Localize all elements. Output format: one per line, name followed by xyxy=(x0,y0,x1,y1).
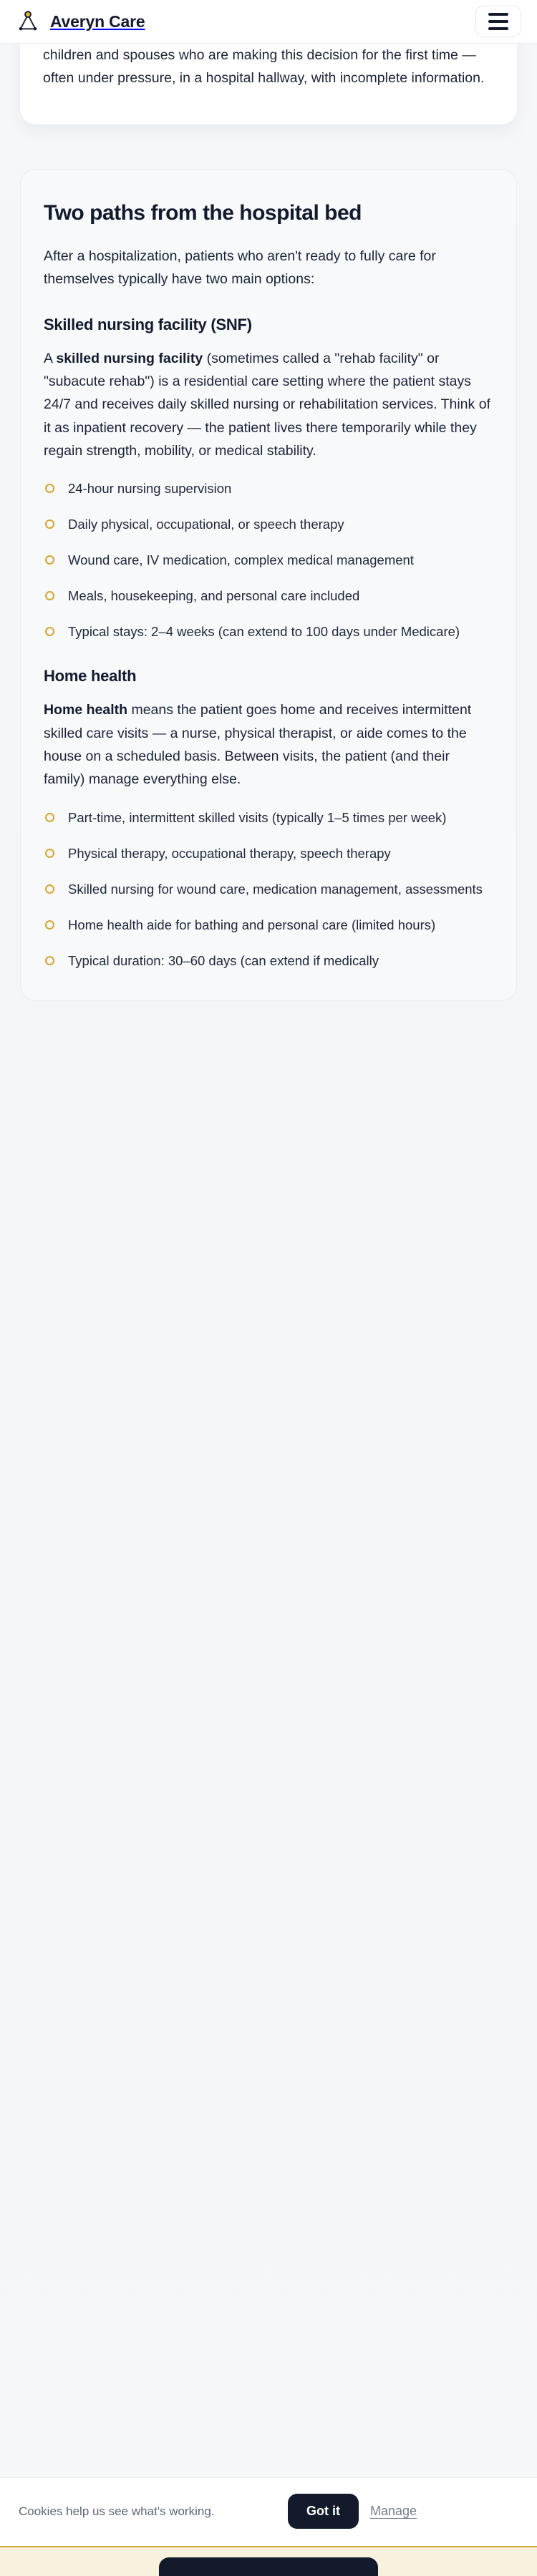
list-item: Skilled nursing for wound care, medicati… xyxy=(44,879,493,900)
lead-rest-snf: (sometimes called a "rehab facility" or … xyxy=(44,351,490,459)
bullet-list-snf: 24-hour nursing supervision Daily physic… xyxy=(44,478,493,643)
list-item: 24-hour nursing supervision xyxy=(44,478,493,499)
circle-bullet-icon xyxy=(45,956,54,965)
card-intro-paragraph: After a hospitalization, patients who ar… xyxy=(44,245,493,291)
circle-bullet-icon xyxy=(45,813,54,822)
brand-link[interactable]: Averyn Care xyxy=(17,11,145,32)
circle-bullet-icon xyxy=(45,519,54,529)
circle-bullet-icon xyxy=(45,849,54,858)
hamburger-menu-icon[interactable] xyxy=(475,6,521,37)
list-item: Daily physical, occupational, or speech … xyxy=(44,514,493,535)
list-item-label: Home health aide for bathing and persona… xyxy=(68,917,435,932)
list-item-label: Skilled nursing for wound care, medicati… xyxy=(68,882,483,897)
triangle-compass-logo-icon xyxy=(17,11,39,32)
section-lead-home-health: Home health means the patient goes home … xyxy=(44,698,493,791)
site-header: Averyn Care xyxy=(0,0,537,44)
cookie-accept-button[interactable]: Got it xyxy=(288,2494,359,2529)
lead-bold-home-health: Home health xyxy=(44,702,127,718)
page-root: Averyn Care children and spouses who are… xyxy=(0,0,537,2576)
cookie-message: Cookies help us see what's working. xyxy=(19,2502,276,2520)
cookie-manage-link[interactable]: Manage xyxy=(370,2504,417,2519)
two-paths-card: Two paths from the hospital bed After a … xyxy=(20,169,517,1001)
lead-prefix-snf: A xyxy=(44,351,56,366)
list-item: Typical duration: 30–60 days (can extend… xyxy=(44,950,493,972)
list-item: Part-time, intermittent skilled visits (… xyxy=(44,807,493,829)
intro-paragraph: children and spouses who are making this… xyxy=(43,44,494,90)
circle-bullet-icon xyxy=(45,627,54,636)
lead-bold-snf: skilled nursing facility xyxy=(56,351,203,366)
list-item: Typical stays: 2–4 weeks (can extend to … xyxy=(44,621,493,643)
list-item-label: Typical stays: 2–4 weeks (can extend to … xyxy=(68,624,460,639)
list-item-label: Part-time, intermittent skilled visits (… xyxy=(68,810,446,825)
cookie-consent-banner: Cookies help us see what's working. Got … xyxy=(0,2477,537,2546)
list-item-label: Meals, housekeeping, and personal care i… xyxy=(68,588,359,603)
circle-bullet-icon xyxy=(45,555,54,565)
list-item: Home health aide for bathing and persona… xyxy=(44,914,493,936)
menu-bar-1 xyxy=(488,13,508,16)
list-item-label: Daily physical, occupational, or speech … xyxy=(68,517,344,532)
card-title: Two paths from the hospital bed xyxy=(44,200,493,226)
circle-bullet-icon xyxy=(45,591,54,600)
list-item-label: Physical therapy, occupational therapy, … xyxy=(68,846,391,861)
sticky-cta-button[interactable] xyxy=(159,2557,378,2576)
circle-bullet-icon xyxy=(45,484,54,493)
menu-bar-3 xyxy=(488,27,508,30)
bullet-list-home-health: Part-time, intermittent skilled visits (… xyxy=(44,807,493,972)
sticky-bottom-bar xyxy=(0,2546,537,2576)
circle-bullet-icon xyxy=(45,884,54,894)
main-content: children and spouses who are making this… xyxy=(0,44,537,2576)
section-lead-snf: A skilled nursing facility (sometimes ca… xyxy=(44,347,493,463)
brand-name: Averyn Care xyxy=(50,12,145,31)
list-item-label: 24-hour nursing supervision xyxy=(68,481,231,496)
list-item: Meals, housekeeping, and personal care i… xyxy=(44,585,493,607)
menu-bar-2 xyxy=(488,20,508,23)
list-item: Physical therapy, occupational therapy, … xyxy=(44,843,493,864)
list-item-label: Typical duration: 30–60 days (can extend… xyxy=(68,953,379,968)
section-heading-home-health: Home health xyxy=(44,667,493,686)
section-heading-snf: Skilled nursing facility (SNF) xyxy=(44,316,493,334)
list-item-label: Wound care, IV medication, complex medic… xyxy=(68,552,414,567)
circle-bullet-icon xyxy=(45,920,54,930)
list-item: Wound care, IV medication, complex medic… xyxy=(44,550,493,571)
